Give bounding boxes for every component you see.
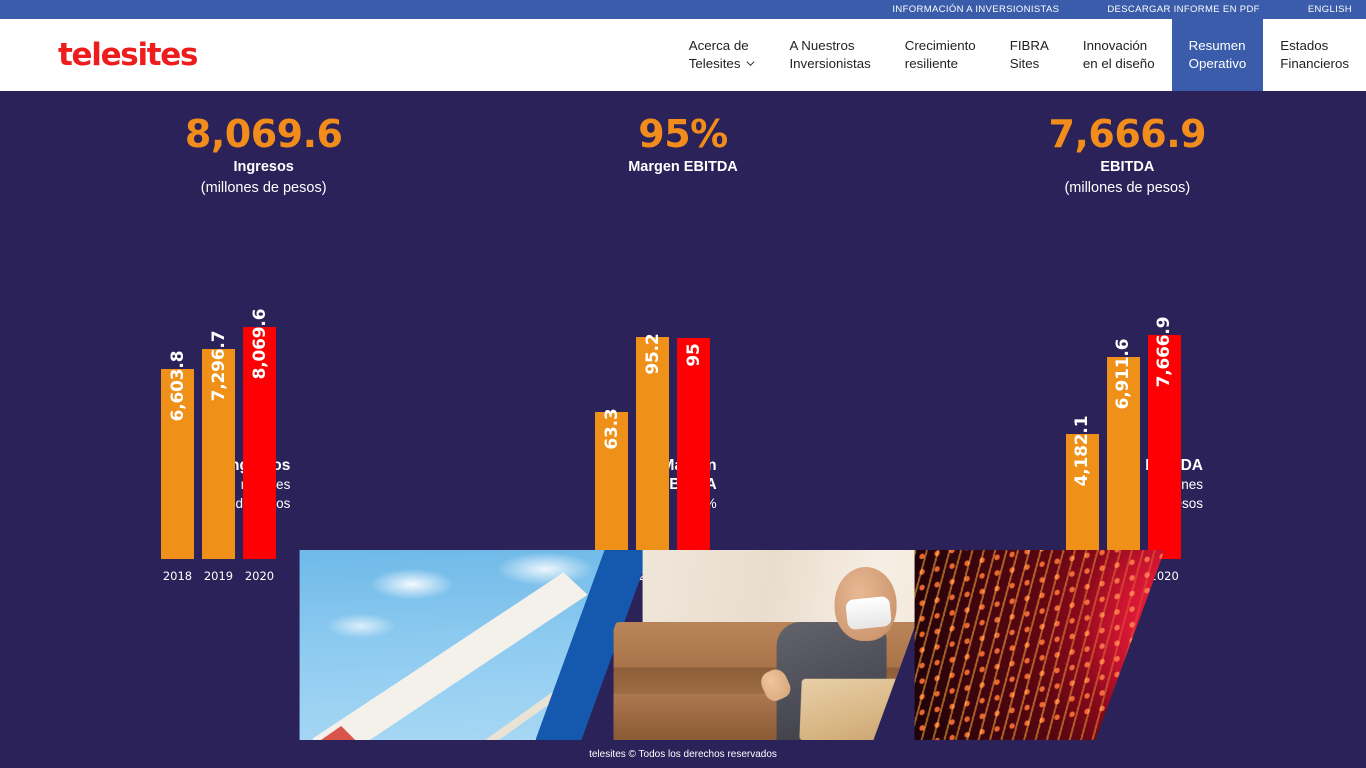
nav-item-estados-financieros[interactable]: Estados Financieros xyxy=(1263,19,1366,91)
kpi-ingresos: 8,069.6 Ingresos (millones de pesos) xyxy=(0,111,455,199)
nav-item-innovacion-en-el-diseno[interactable]: Innovación en el diseño xyxy=(1066,19,1172,91)
kpi-value: 8,069.6 xyxy=(0,111,455,157)
nav-item-resumen-operativo[interactable]: Resumen Operativo xyxy=(1172,19,1264,91)
led-dot-matrix xyxy=(915,550,1165,740)
bar-value-label: 95.2 xyxy=(643,333,663,374)
kpi-label: Margen EBITDA xyxy=(455,157,910,178)
investor-information-link[interactable]: INFORMACIÓN A INVERSIONISTAS xyxy=(892,4,1059,15)
bar-value-label: 7,666.9 xyxy=(1154,317,1174,388)
bar-2018[interactable]: 6,603.8 2018 xyxy=(161,369,194,559)
bar-2019[interactable]: 95.2 2019 xyxy=(636,337,669,559)
chevron-down-icon xyxy=(746,59,755,68)
bar-value-label: 95 xyxy=(684,343,704,366)
nav-label-line1: Innovación xyxy=(1083,37,1155,55)
nav-item-acerca-de-telesites[interactable]: Acerca de Telesites xyxy=(672,19,773,91)
bar-value-label: 6,603.8 xyxy=(168,351,188,422)
kpi-value: 95% xyxy=(455,111,910,157)
nav-label-line2: Telesites xyxy=(689,55,741,73)
nav-label-line2: Inversionistas xyxy=(789,55,870,73)
site-footer: telesites © Todos los derechos reservado… xyxy=(0,740,1366,768)
plot-area: 63.3 2018 95.2 2019 95 2020 xyxy=(455,211,910,591)
face-mask-man xyxy=(845,595,892,629)
kpi-margen-ebitda: 95% Margen EBITDA xyxy=(455,111,910,199)
chart-margen-ebitda: Margen EBITDA % 63.3 2018 95.2 2019 95 xyxy=(455,211,910,591)
nav-label-line1: A Nuestros xyxy=(789,37,870,55)
bar-2020[interactable]: 7,666.9 2020 xyxy=(1148,335,1181,559)
bar-value-label: 7,296.7 xyxy=(209,331,229,402)
bar-2019[interactable]: 6,911.6 2019 xyxy=(1107,357,1140,559)
charts-row: Ingresos millones de pesos 6,603.8 2018 … xyxy=(0,211,1366,591)
bar-value-label: 4,182.1 xyxy=(1072,416,1092,487)
bar-2018[interactable]: 4,182.1 2018 xyxy=(1066,434,1099,559)
nav-label-line2: Sites xyxy=(1010,55,1049,73)
bar-value-label: 6,911.6 xyxy=(1113,339,1133,410)
bar-2020[interactable]: 8,069.6 2020 xyxy=(243,327,276,559)
kpi-unit: (millones de pesos) xyxy=(0,178,455,199)
logo-container[interactable]: telesites xyxy=(0,19,197,91)
bar-2020[interactable]: 95 2020 xyxy=(677,338,710,559)
nav-label-line1: Estados xyxy=(1280,37,1349,55)
nav-label-line1: Crecimiento xyxy=(905,37,976,55)
language-english-link[interactable]: ENGLISH xyxy=(1308,4,1352,15)
chart-ingresos: Ingresos millones de pesos 6,603.8 2018 … xyxy=(0,211,455,591)
bar-value-label: 63.3 xyxy=(602,408,622,449)
nav-label-line2: Financieros xyxy=(1280,55,1349,73)
nav-label-line1: FIBRA xyxy=(1010,37,1049,55)
kpi-label: Ingresos xyxy=(0,157,455,178)
chart-ebitda: EBITDA millones de pesos 4,182.1 2018 6,… xyxy=(911,211,1366,591)
main-navigation: Acerca de Telesites A Nuestros Inversion… xyxy=(672,19,1366,91)
nav-item-a-nuestros-inversionistas[interactable]: A Nuestros Inversionistas xyxy=(772,19,887,91)
kpi-unit: (millones de pesos) xyxy=(911,178,1366,199)
kpi-ebitda: 7,666.9 EBITDA (millones de pesos) xyxy=(911,111,1366,199)
nav-label-line1: Acerca de xyxy=(689,37,756,55)
kpi-label: EBITDA xyxy=(911,157,1366,178)
site-header: telesites Acerca de Telesites A Nuestros… xyxy=(0,19,1366,91)
bar-2018[interactable]: 63.3 2018 xyxy=(595,412,628,559)
kpi-summary-row: 8,069.6 Ingresos (millones de pesos) 95%… xyxy=(0,91,1366,199)
bar-2019[interactable]: 7,296.7 2019 xyxy=(202,349,235,559)
nav-item-crecimiento-resiliente[interactable]: Crecimiento resiliente xyxy=(888,19,993,91)
nav-label-line2: resiliente xyxy=(905,55,976,73)
plot-area: 4,182.1 2018 6,911.6 2019 7,666.9 2020 xyxy=(911,211,1366,591)
top-utility-bar: INFORMACIÓN A INVERSIONISTAS DESCARGAR I… xyxy=(0,0,1366,19)
nav-item-fibra-sites[interactable]: FIBRA Sites xyxy=(993,19,1066,91)
kpi-value: 7,666.9 xyxy=(911,111,1366,157)
nav-label-line2: en el diseño xyxy=(1083,55,1155,73)
main-content: 8,069.6 Ingresos (millones de pesos) 95%… xyxy=(0,91,1366,768)
nav-label-line2: Operativo xyxy=(1189,55,1247,73)
bar-value-label: 8,069.6 xyxy=(250,309,270,380)
telesites-logo[interactable]: telesites xyxy=(58,37,197,73)
plot-area: 6,603.8 2018 7,296.7 2019 8,069.6 2020 xyxy=(0,211,455,591)
download-pdf-report-link[interactable]: DESCARGAR INFORME EN PDF xyxy=(1107,4,1260,15)
image-band xyxy=(0,550,1366,740)
copyright-text: telesites © Todos los derechos reservado… xyxy=(589,749,777,760)
nav-label-line1: Resumen xyxy=(1189,37,1247,55)
